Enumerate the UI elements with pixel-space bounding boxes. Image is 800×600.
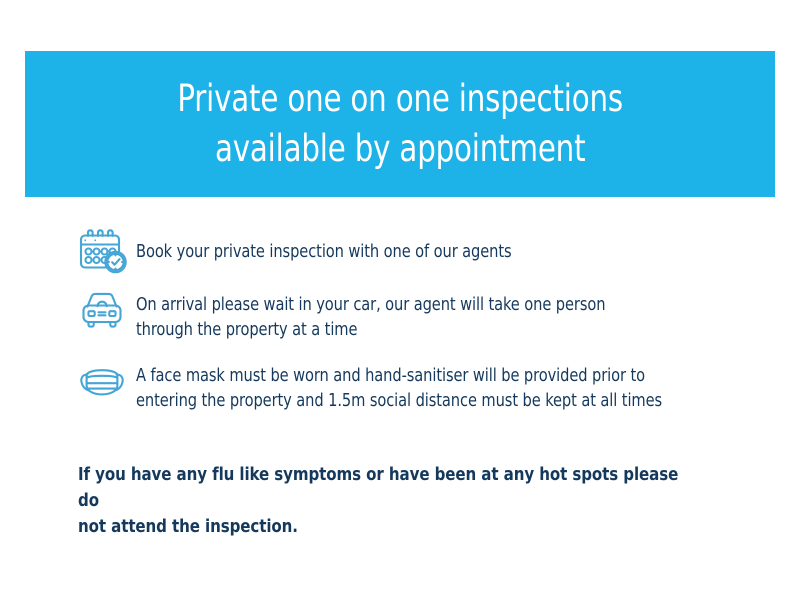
list-item: On arrival please wait in your car, our … — [78, 289, 758, 343]
footer-warning-note: If you have any flu like symptoms or hav… — [78, 462, 701, 540]
list-item-text: A face mask must be worn and hand-saniti… — [136, 361, 714, 414]
list-item-text: Book your private inspection with one of… — [136, 227, 714, 265]
list-item: A face mask must be worn and hand-saniti… — [78, 361, 758, 414]
list-item: Book your private inspection with one of… — [78, 227, 758, 275]
page-title: Private one on one inspections available… — [177, 74, 623, 175]
header-banner: Private one on one inspections available… — [25, 51, 775, 197]
car-front-icon — [78, 289, 136, 331]
guidelines-list: Book your private inspection with one of… — [78, 227, 758, 413]
list-item-text: On arrival please wait in your car, our … — [136, 289, 714, 343]
face-mask-icon — [78, 361, 136, 401]
calendar-clock-icon — [78, 227, 136, 275]
inspection-notice-poster: Private one on one inspections available… — [0, 0, 800, 600]
